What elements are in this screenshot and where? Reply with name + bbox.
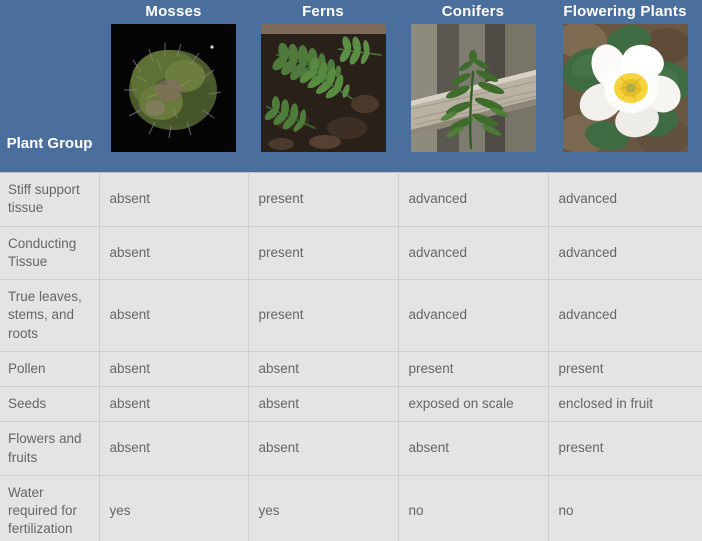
cell-flowering-plants: present: [548, 422, 702, 475]
table-header: Plant Group Mosses: [0, 0, 702, 172]
cell-conifers: advanced: [398, 226, 548, 279]
row-feature-label: True leaves, stems, and roots: [0, 279, 99, 351]
cell-flowering-plants: no: [548, 475, 702, 541]
cell-ferns: yes: [248, 475, 398, 541]
row-feature-label: Stiff support tissue: [0, 172, 99, 226]
table-row: Flowers and fruits absent absent absent …: [0, 422, 702, 475]
table-row: Seeds absent absent exposed on scale enc…: [0, 387, 702, 422]
column-header-label-mosses: Mosses: [99, 3, 248, 20]
flower-photo: [563, 24, 688, 152]
cell-conifers: no: [398, 475, 548, 541]
cell-ferns: absent: [248, 422, 398, 475]
column-header-ferns: Ferns: [248, 0, 398, 172]
table-header-row: Plant Group Mosses: [0, 0, 702, 172]
column-header-mosses: Mosses: [99, 0, 248, 172]
cell-conifers: exposed on scale: [398, 387, 548, 422]
cell-ferns: present: [248, 172, 398, 226]
cell-mosses: absent: [99, 422, 248, 475]
cell-mosses: absent: [99, 351, 248, 386]
cell-flowering-plants: advanced: [548, 279, 702, 351]
row-feature-label: Flowers and fruits: [0, 422, 99, 475]
cell-ferns: present: [248, 279, 398, 351]
row-feature-label: Water required for fertilization: [0, 475, 99, 541]
corner-header-plant-group: Plant Group: [0, 0, 99, 172]
column-header-label-flowering-plants: Flowering Plants: [548, 3, 702, 20]
fern-photo: [261, 24, 386, 152]
cell-conifers: absent: [398, 422, 548, 475]
table-row: Water required for fertilization yes yes…: [0, 475, 702, 541]
row-feature-label: Pollen: [0, 351, 99, 386]
conifer-photo: [411, 24, 536, 152]
cell-conifers: advanced: [398, 172, 548, 226]
moss-photo: [111, 24, 236, 152]
cell-flowering-plants: enclosed in fruit: [548, 387, 702, 422]
row-feature-label: Seeds: [0, 387, 99, 422]
table-row: Stiff support tissue absent present adva…: [0, 172, 702, 226]
cell-ferns: absent: [248, 351, 398, 386]
cell-mosses: absent: [99, 387, 248, 422]
cell-conifers: present: [398, 351, 548, 386]
column-header-label-ferns: Ferns: [248, 3, 398, 20]
corner-header-label: Plant Group: [7, 135, 93, 152]
table-row: True leaves, stems, and roots absent pre…: [0, 279, 702, 351]
table-row: Conducting Tissue absent present advance…: [0, 226, 702, 279]
comparison-table: Plant Group Mosses: [0, 0, 702, 541]
table-row: Pollen absent absent present present: [0, 351, 702, 386]
cell-conifers: advanced: [398, 279, 548, 351]
row-feature-label: Conducting Tissue: [0, 226, 99, 279]
cell-flowering-plants: advanced: [548, 226, 702, 279]
table-body: Stiff support tissue absent present adva…: [0, 172, 702, 541]
cell-ferns: present: [248, 226, 398, 279]
cell-flowering-plants: advanced: [548, 172, 702, 226]
cell-mosses: yes: [99, 475, 248, 541]
cell-mosses: absent: [99, 172, 248, 226]
cell-flowering-plants: present: [548, 351, 702, 386]
cell-ferns: absent: [248, 387, 398, 422]
plant-group-comparison-table: Plant Group Mosses: [0, 0, 702, 541]
cell-mosses: absent: [99, 279, 248, 351]
cell-mosses: absent: [99, 226, 248, 279]
column-header-conifers: Conifers: [398, 0, 548, 172]
column-header-label-conifers: Conifers: [398, 3, 548, 20]
column-header-flowering-plants: Flowering Plants: [548, 0, 702, 172]
